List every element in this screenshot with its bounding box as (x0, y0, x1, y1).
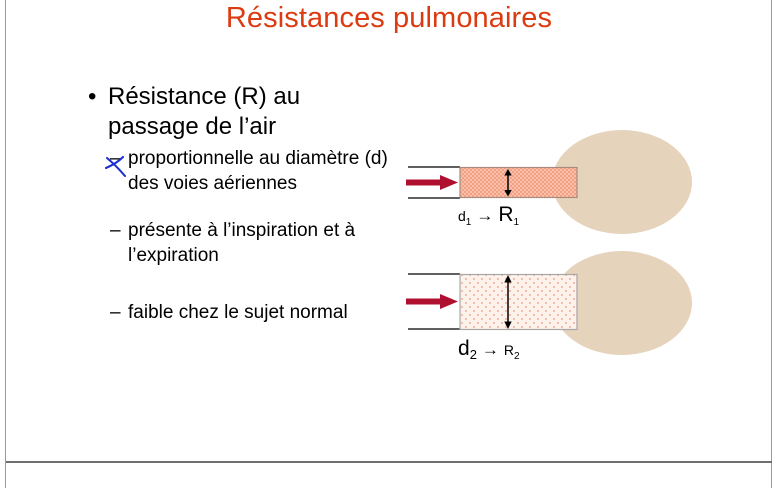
airway1-arrow-symbol: → (471, 206, 498, 225)
airway2-d-subscript: 2 (470, 347, 477, 362)
sub-bullet-item-faible: – faible chez le sujet normal (110, 301, 394, 326)
airway2-R-subscript: 2 (514, 351, 520, 362)
dash-marker-icon: – (110, 147, 121, 172)
main-bullet-item: • Résistance (R) au passage de l’air (84, 82, 394, 142)
sub-bullet-item-proportionnelle: – proportionnelle au diamètre (d) des vo… (110, 147, 394, 196)
slide-canvas: Résistances pulmonaires • Résistance (R)… (0, 0, 778, 488)
airway1-tube (460, 168, 577, 198)
slide-border-bottom (6, 461, 772, 463)
airway2-label: d2→R2 (458, 337, 520, 362)
main-bullet-label: Résistance (R) au passage de l’air (108, 83, 300, 140)
airway2-tube (460, 275, 577, 330)
bullet-dot-icon: • (88, 82, 96, 112)
slide-title: Résistances pulmonaires (0, 2, 778, 35)
airway1-d-symbol: d (458, 208, 466, 224)
slide-border-right (771, 0, 772, 488)
sub-bullet-list: – proportionnelle au diamètre (d) des vo… (84, 147, 394, 326)
airway-resistance-diagram: d1→R1 d2→R2 (400, 125, 710, 385)
airflow-arrow-2-icon (406, 294, 458, 309)
airway2-R-symbol: R (504, 342, 514, 358)
dash-marker-icon: – (110, 219, 121, 244)
airway2-d-symbol: d (458, 337, 470, 360)
airway-diagram-svg (400, 125, 710, 385)
sub-bullet-label: faible chez le sujet normal (128, 302, 348, 323)
airway1-R-symbol: R (498, 203, 513, 226)
sub-bullet-label: proportionnelle au diamètre (d) des voie… (128, 148, 388, 194)
dash-marker-icon: – (110, 301, 121, 326)
sub-bullet-label: présente à l’inspiration et à l’expirati… (128, 220, 355, 266)
airway1-label: d1→R1 (458, 203, 519, 228)
slide-border-left (5, 0, 6, 488)
airflow-arrow-1-icon (406, 175, 458, 190)
airway2-arrow-symbol: → (477, 340, 504, 359)
sub-bullet-item-inspiration: – présente à l’inspiration et à l’expira… (110, 219, 394, 268)
airway1-R-subscript: 1 (514, 217, 520, 228)
slide-body: • Résistance (R) au passage de l’air – p… (84, 82, 394, 346)
